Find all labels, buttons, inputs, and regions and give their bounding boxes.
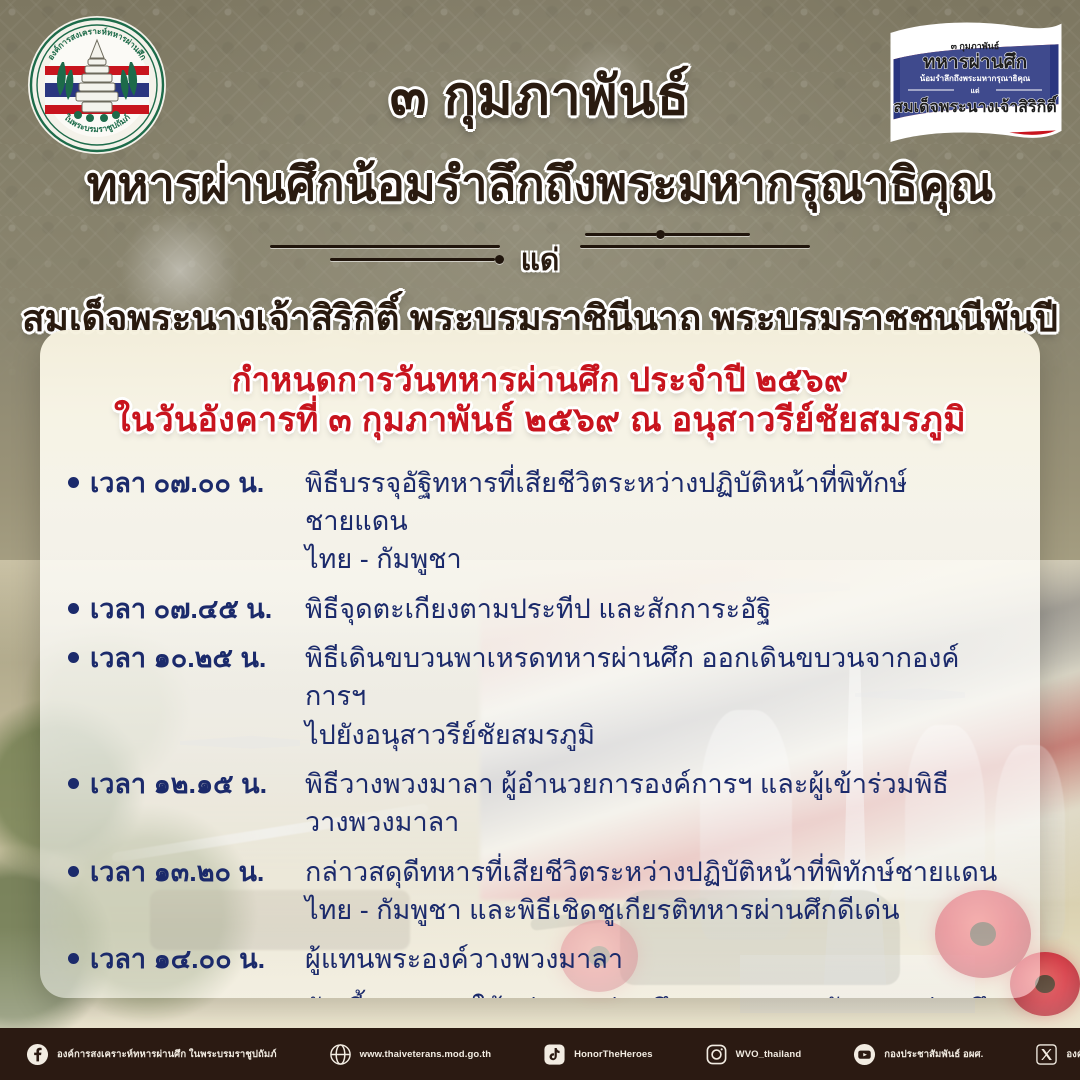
x-icon: [1035, 1043, 1058, 1066]
desc-line-2: วางพวงมาลา: [305, 803, 1006, 841]
schedule-item-desc: พิธีบรรจุอัฐิทหารที่เสียชีวิตระหว่างปฏิบ…: [305, 464, 1006, 579]
bullet-icon: [68, 652, 79, 663]
footer-youtube[interactable]: กองประชาสัมพันธ์ อผศ.: [849, 1043, 987, 1066]
bullet-icon: [68, 477, 79, 488]
schedule-item: เวลา ๐๗.๐๐ น. พิธีบรรจุอัฐิทหารที่เสียชี…: [68, 464, 1006, 579]
ornament-left: [250, 231, 500, 271]
schedule-list: เวลา ๐๗.๐๐ น. พิธีบรรจุอัฐิทหารที่เสียชี…: [40, 464, 1040, 998]
footer-x-label: องค์การสงเคราะห์ทหารผ่านศึก ในพระบรมราชู…: [1066, 1047, 1080, 1062]
desc-line-2: ไปยังอนุสาวรีย์ชัยสมรภูมิ: [305, 716, 1006, 754]
tiktok-icon: [543, 1043, 566, 1066]
schedule-heading-line2: ในวันอังคารที่ ๓ กุมภาพันธ์ ๒๕๖๙ ณ อนุสา…: [40, 400, 1040, 441]
footer-instagram[interactable]: WVO_thailand: [701, 1043, 806, 1066]
schedule-heading-line1: กำหนดการวันทหารผ่านศึก ประจำปี ๒๕๖๙: [40, 360, 1040, 400]
youtube-icon: [853, 1043, 876, 1066]
footer-website[interactable]: www.thaiveterans.mod.go.th: [325, 1043, 496, 1066]
schedule-item-time: เวลา ๐๗.๐๐ น.: [90, 464, 305, 502]
schedule-heading: กำหนดการวันทหารผ่านศึก ประจำปี ๒๕๖๙ ในวั…: [40, 330, 1040, 442]
footer-website-label: www.thaiveterans.mod.go.th: [360, 1049, 492, 1060]
schedule-item-time: เวลา ๐๗.๔๕ น.: [90, 590, 305, 628]
schedule-item: เวลา ๐๗.๔๕ น. พิธีจุดตะเกียงตามประทีป แล…: [68, 590, 1006, 628]
schedule-item-desc: พิธีเดินขบวนพาเหรดทหารผ่านศึก ออกเดินขบว…: [305, 639, 1006, 754]
schedule-item: เวลา ๑๔.๐๐ น. ผู้แทนพระองค์วางพวงมาลา: [68, 940, 1006, 978]
desc-line-2: ไทย - กัมพูชา และพิธีเชิดชูเกียรติทหารผ่…: [305, 891, 1006, 929]
bullet-icon: [68, 953, 79, 964]
bullet-icon: [68, 603, 79, 614]
schedule-item-desc: กล่าวสดุดีทหารที่เสียชีวิตระหว่างปฏิบัติ…: [305, 853, 1006, 930]
ornament-right: [580, 231, 830, 271]
desc-line-2: ไทย - กัมพูชา: [305, 540, 1006, 578]
footer-tiktok-label: HonorTheHeroes: [574, 1049, 652, 1060]
desc-line-1: กล่าวสดุดีทหารที่เสียชีวิตระหว่างปฏิบัติ…: [305, 857, 997, 887]
schedule-item-desc: พิธีวางพวงมาลา ผู้อำนวยการองค์การฯ และผู…: [305, 765, 1006, 842]
schedule-item: เวลา ๑๕.๐๐ น. จัดเลี้ยงอาหารให้แก่ทหารผ่…: [68, 990, 1006, 998]
footer-x[interactable]: องค์การสงเคราะห์ทหารผ่านศึก ในพระบรมราชู…: [1031, 1043, 1080, 1066]
bullet-icon: [68, 866, 79, 877]
schedule-item-time: เวลา ๑๔.๐๐ น.: [90, 940, 305, 978]
desc-line-1: พิธีเดินขบวนพาเหรดทหารผ่านศึก ออกเดินขบว…: [305, 643, 959, 711]
schedule-item-time: เวลา ๑๕.๐๐ น.: [90, 990, 305, 998]
instagram-icon: [705, 1043, 728, 1066]
poster-main-title: ทหารผ่านศึกน้อมรำลึกถึงพระมหากรุณาธิคุณ: [0, 146, 1080, 221]
schedule-item-time: เวลา ๑๓.๒๐ น.: [90, 853, 305, 891]
desc-line-1: ผู้แทนพระองค์วางพวงมาลา: [305, 944, 623, 974]
schedule-item-time: เวลา ๑๐.๒๕ น.: [90, 639, 305, 677]
footer-tiktok[interactable]: HonorTheHeroes: [539, 1043, 656, 1066]
schedule-item-desc: จัดเลี้ยงอาหารให้แก่ทหารผ่านศึก และครอบค…: [305, 990, 1006, 998]
bullet-icon: [68, 778, 79, 789]
social-footer: องค์การสงเคราะห์ทหารผ่านศึก ในพระบรมราชู…: [0, 1028, 1080, 1080]
desc-line-1: จัดเลี้ยงอาหารให้แก่ทหารผ่านศึก และครอบค…: [305, 994, 1003, 998]
dedication-word: แด่: [521, 237, 560, 284]
schedule-item-desc: พิธีจุดตะเกียงตามประทีป และสักการะอัฐิ: [305, 590, 1006, 628]
footer-facebook[interactable]: องค์การสงเคราะห์ทหารผ่านศึก ในพระบรมราชู…: [22, 1043, 281, 1066]
footer-youtube-label: กองประชาสัมพันธ์ อผศ.: [884, 1047, 983, 1062]
schedule-item-desc: ผู้แทนพระองค์วางพวงมาลา: [305, 940, 1006, 978]
footer-instagram-label: WVO_thailand: [736, 1049, 802, 1060]
schedule-item: เวลา ๑๓.๒๐ น. กล่าวสดุดีทหารที่เสียชีวิต…: [68, 853, 1006, 930]
poster-root: องค์การสงเคราะห์ทหารผ่านศึก ในพระบรมราชู…: [0, 0, 1080, 1080]
footer-facebook-label: องค์การสงเคราะห์ทหารผ่านศึก ในพระบรมราชู…: [57, 1047, 277, 1062]
schedule-item: เวลา ๑๐.๒๕ น. พิธีเดินขบวนพาเหรดทหารผ่าน…: [68, 639, 1006, 754]
schedule-card: กำหนดการวันทหารผ่านศึก ประจำปี ๒๕๖๙ ในวั…: [40, 330, 1040, 998]
schedule-item: เวลา ๑๒.๑๕ น. พิธีวางพวงมาลา ผู้อำนวยการ…: [68, 765, 1006, 842]
desc-line-1: พิธีวางพวงมาลา ผู้อำนวยการองค์การฯ และผู…: [305, 769, 949, 799]
facebook-icon: [26, 1043, 49, 1066]
schedule-item-time: เวลา ๑๒.๑๕ น.: [90, 765, 305, 803]
desc-line-1: พิธีบรรจุอัฐิทหารที่เสียชีวิตระหว่างปฏิบ…: [305, 468, 907, 536]
poster-date-title: ๓ กุมภาพันธ์: [0, 52, 1080, 138]
dedication-row: แด่: [0, 231, 1080, 285]
globe-icon: [329, 1043, 352, 1066]
desc-line-1: พิธีจุดตะเกียงตามประทีป และสักการะอัฐิ: [305, 594, 771, 624]
